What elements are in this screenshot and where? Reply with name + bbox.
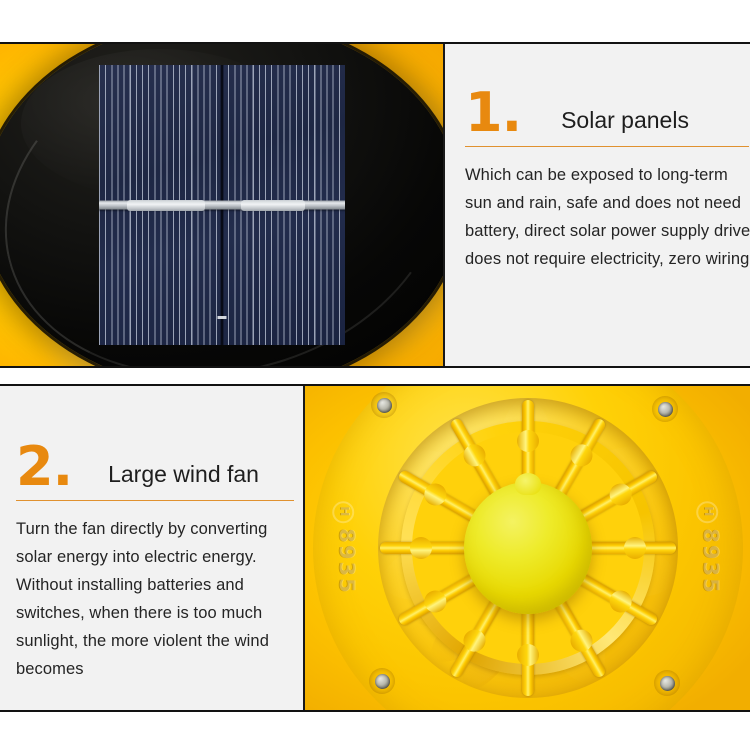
emboss-text: 8935	[699, 528, 723, 594]
emboss-text: 8935	[335, 528, 359, 594]
wind-fan-text-block: 2. Large wind fan Turn the fan directly …	[0, 386, 303, 710]
fan-housing-background: H8935 H8935	[305, 386, 750, 710]
emboss-label-right: H8935	[696, 501, 723, 594]
solar-panel-photo	[0, 44, 443, 366]
infographic-page: 1. Solar panels Which can be exposed to …	[0, 0, 750, 750]
screw-bottom-right	[654, 670, 680, 696]
fan-hub-nub	[515, 473, 541, 495]
step-number: 1.	[465, 88, 521, 138]
fan-center-hub	[464, 482, 592, 614]
screw-top-right	[652, 396, 678, 422]
cell-marking	[217, 316, 226, 319]
feature-panel-large-wind-fan: 2. Large wind fan Turn the fan directly …	[0, 384, 750, 712]
heading-row: 1. Solar panels	[465, 80, 744, 138]
solar-panels-text-block: 1. Solar panels Which can be exposed to …	[443, 44, 750, 366]
heading-row: 2. Large wind fan	[16, 434, 297, 492]
emboss-symbol: H	[696, 501, 718, 523]
step-number: 2.	[16, 442, 72, 492]
screw-bottom-left	[369, 668, 395, 694]
photovoltaic-cell	[99, 65, 345, 345]
page-title: Solar panels	[561, 107, 689, 138]
emboss-symbol: H	[332, 501, 354, 523]
page-title: Large wind fan	[108, 461, 259, 492]
heading-underline	[465, 146, 749, 147]
feature-panel-solar-panels: 1. Solar panels Which can be exposed to …	[0, 42, 750, 368]
feature-description: Which can be exposed to long-term sun an…	[465, 161, 750, 273]
yellow-body-background	[0, 44, 443, 366]
heading-underline	[16, 500, 294, 501]
cell-busbar	[99, 201, 345, 210]
screw-top-left	[371, 392, 397, 418]
emboss-label-left: H8935	[332, 501, 359, 594]
wind-fan-photo: H8935 H8935	[303, 386, 750, 710]
feature-description: Turn the fan directly by converting sola…	[16, 515, 306, 683]
